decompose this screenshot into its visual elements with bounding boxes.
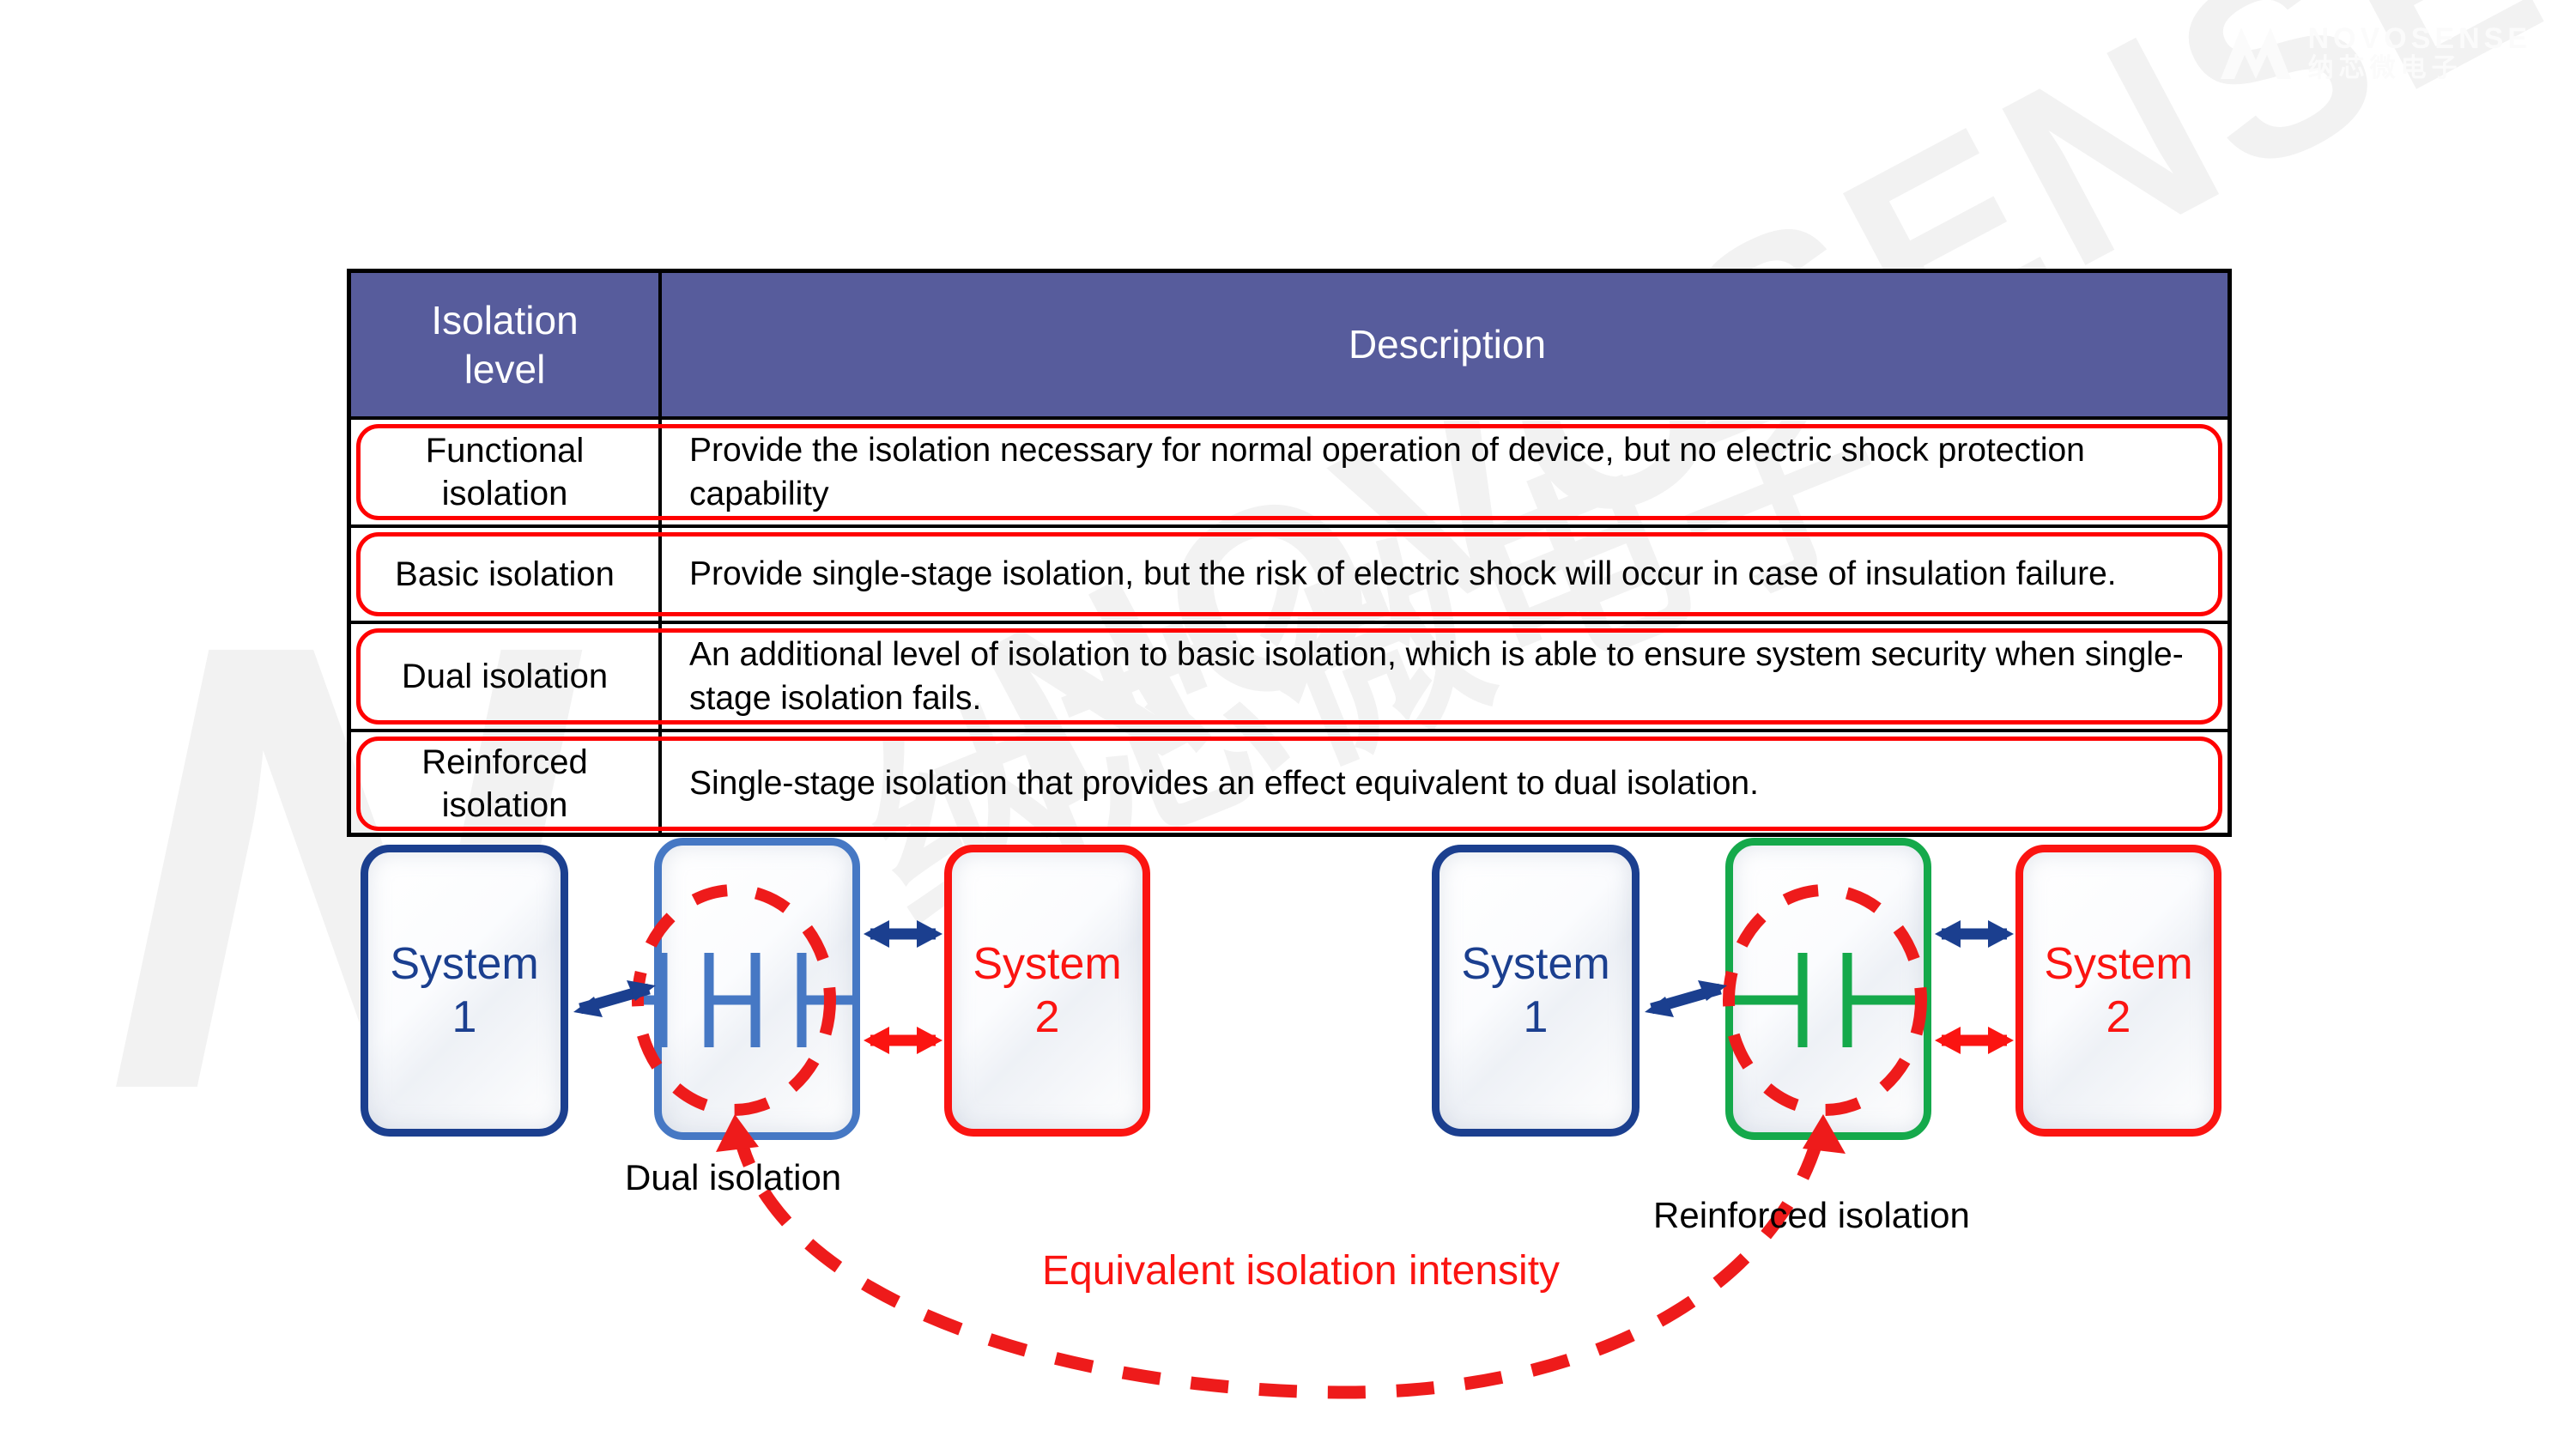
table-row: Reinforced isolation Single-stage isolat…	[351, 729, 2227, 835]
header-level-line1: Isolation	[431, 298, 578, 343]
dual-capacitor-symbol	[637, 953, 855, 1047]
diagram-vector-overlay	[0, 824, 2576, 1449]
right-isolator-to-system2-red-arrow	[1935, 1027, 2014, 1054]
brand-text: NOVOSENSE 纳芯微电子	[2308, 24, 2531, 82]
single-capacitor-symbol	[1734, 953, 1926, 1047]
row-description-cell: Single-stage isolation that provides an …	[662, 732, 2227, 835]
header-cell-isolation-level: Isolation level	[351, 273, 662, 416]
novosense-n-icon	[2219, 26, 2293, 81]
brand-logo: NOVOSENSE 纳芯微电子	[2219, 24, 2531, 82]
row-level-line1: Reinforced	[421, 743, 587, 781]
left-group-caption: Dual isolation	[625, 1157, 841, 1198]
row-level-line2: isolation	[442, 786, 568, 824]
row-description-cell: Provide single-stage isolation, but the …	[662, 528, 2227, 621]
table-row: Basic isolation Provide single-stage iso…	[351, 524, 2227, 621]
table-row: Dual isolation An additional level of is…	[351, 621, 2227, 729]
brand-name-en: NOVOSENSE	[2308, 24, 2531, 55]
right-system1-to-isolator-arrow	[1645, 980, 1727, 1017]
table-row: Functional isolation Provide the isolati…	[351, 416, 2227, 524]
header-cell-description: Description	[662, 273, 2227, 416]
row-level-cell: Dual isolation	[351, 624, 662, 729]
table-header-row: Isolation level Description	[351, 273, 2227, 416]
left-isolator-to-system2-blue-arrow	[864, 920, 943, 948]
right-group-caption: Reinforced isolation	[1653, 1195, 1970, 1236]
header-level-line2: level	[464, 347, 546, 391]
isolation-level-table: Isolation level Description Functional i…	[347, 269, 2232, 837]
row-level-line1: Functional	[426, 432, 585, 470]
isolation-diagram: System 1 System 2 System 1 System 2	[0, 824, 2576, 1449]
left-isolator-to-system2-red-arrow	[864, 1027, 943, 1054]
equivalence-label: Equivalent isolation intensity	[1042, 1247, 1560, 1294]
row-level-cell: Functional isolation	[351, 420, 662, 524]
row-description-cell: An additional level of isolation to basi…	[662, 624, 2227, 729]
equivalence-curve-arrow-right	[1803, 1114, 1846, 1154]
row-level-line1: Dual isolation	[402, 655, 608, 698]
equivalence-curve-arrow-left	[716, 1114, 759, 1152]
slide-canvas: N NOVOSENSE 纳芯微电子 NOVOSENSE 纳芯微电子 Isolat…	[0, 0, 2576, 1449]
brand-name-cn: 纳芯微电子	[2308, 55, 2531, 82]
right-isolator-to-system2-blue-arrow	[1935, 920, 2014, 948]
row-level-cell: Basic isolation	[351, 528, 662, 621]
row-level-line1: Basic isolation	[395, 553, 615, 596]
row-level-line2: isolation	[442, 475, 568, 512]
row-description-cell: Provide the isolation necessary for norm…	[662, 420, 2227, 524]
row-level-cell: Reinforced isolation	[351, 732, 662, 835]
